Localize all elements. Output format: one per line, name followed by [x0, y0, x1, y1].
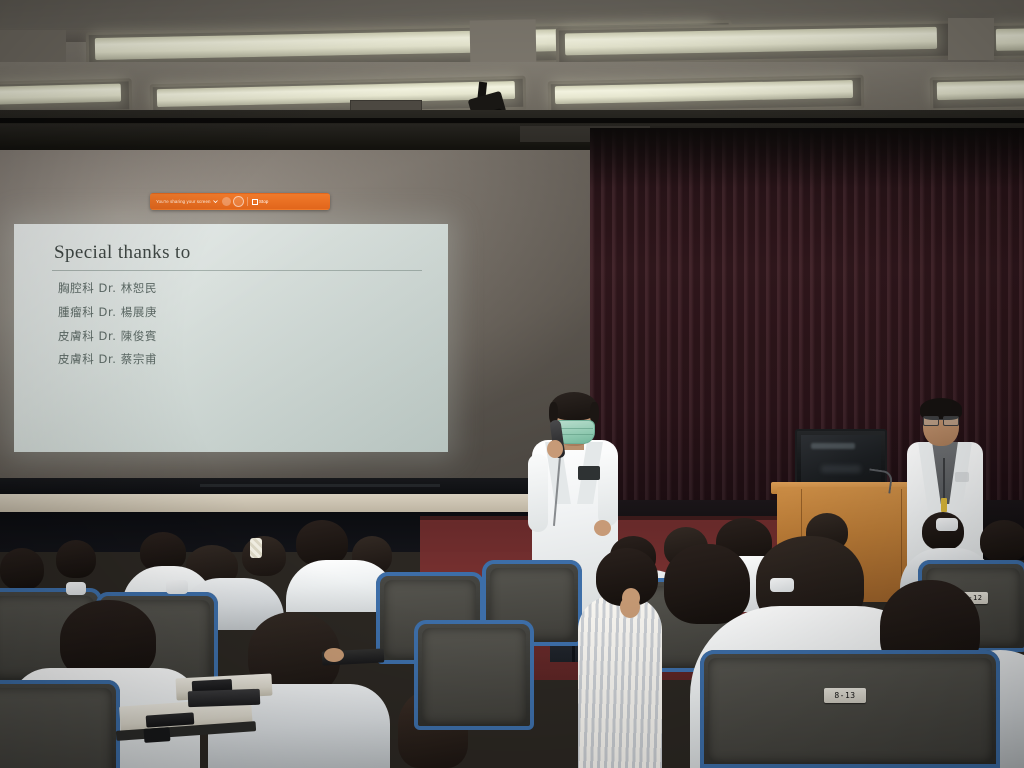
face-mask	[936, 518, 958, 531]
ceiling-beam	[948, 18, 994, 60]
pause-icon[interactable]	[233, 196, 244, 207]
light-strip	[555, 80, 853, 104]
slide-line-2: 腫瘤科 Dr. 楊展庚	[58, 304, 157, 320]
light-strip	[565, 27, 937, 55]
slide-line-1: 胸腔科 Dr. 林恕民	[58, 280, 157, 296]
stop-square-icon	[252, 199, 258, 205]
face-mask	[770, 578, 794, 592]
hair-clip	[250, 538, 262, 558]
auditorium-seat	[414, 620, 534, 730]
light-strip	[996, 27, 1024, 51]
slide-line-3: 皮膚科 Dr. 陳俊賓	[58, 328, 157, 344]
presenter-hand-left	[547, 440, 563, 458]
lecture-hall-scene: Special thanks to 胸腔科 Dr. 林恕民 腫瘤科 Dr. 楊展…	[0, 0, 1024, 768]
audience-hand	[622, 588, 640, 608]
wall-slot	[200, 484, 440, 487]
screen-share-toolbar[interactable]: You're sharing your screen Stop	[150, 193, 330, 210]
presenter-left-arm	[528, 454, 548, 532]
projection-screen: Special thanks to 胸腔科 Dr. 林恕民 腫瘤科 Dr. 楊展…	[14, 224, 448, 452]
audience-head	[0, 548, 44, 590]
present-icon[interactable]	[222, 197, 231, 206]
light-strip	[937, 80, 1024, 100]
chevron-down-icon[interactable]	[213, 199, 218, 204]
seat-cushion	[0, 688, 112, 768]
seat-cushion	[708, 658, 992, 762]
audience-hand	[324, 648, 344, 662]
slide-line-4: 皮膚科 Dr. 蔡宗甫	[58, 351, 157, 367]
light-fixture-frame	[930, 75, 1024, 112]
seat-cushion	[422, 628, 526, 724]
face-mask	[66, 582, 86, 595]
lanyard	[943, 458, 945, 500]
presenter-hand-right	[594, 520, 611, 536]
phone	[144, 727, 171, 743]
wall-band-light	[0, 494, 600, 512]
presenter-right-arm	[598, 454, 618, 526]
light-strip	[157, 81, 515, 107]
auditorium-seat-tagged: 8-13	[700, 650, 1000, 768]
audience-striped-shirt	[578, 596, 662, 768]
audience-head	[980, 520, 1024, 562]
tablet-arm	[188, 689, 261, 708]
ceiling-beam	[470, 19, 537, 66]
stop-sharing-button[interactable]: Stop	[252, 199, 269, 205]
audience-head	[56, 540, 96, 578]
soffit-edge	[0, 118, 1024, 123]
toolbar-separator	[247, 197, 248, 206]
coat-logo	[955, 472, 969, 482]
eyeglasses-icon	[923, 416, 959, 424]
face-mask	[166, 580, 188, 594]
seat-number-tag: 8-13	[824, 688, 866, 703]
stop-sharing-label: Stop	[259, 199, 268, 204]
audience-head	[242, 536, 286, 576]
auditorium-seat	[0, 680, 120, 768]
monitor-reflection	[811, 443, 855, 449]
monitor-reflection	[821, 465, 861, 473]
slide-title: Special thanks to	[54, 242, 191, 264]
share-status-text: You're sharing your screen	[154, 199, 211, 204]
stage-curtain-shadow	[590, 128, 1024, 188]
audience-head-front	[664, 544, 750, 624]
slide-divider	[52, 270, 422, 271]
coat-pocket	[578, 466, 600, 480]
light-fixture-frame	[556, 20, 959, 65]
id-badge	[941, 498, 947, 512]
light-strip	[0, 84, 121, 105]
